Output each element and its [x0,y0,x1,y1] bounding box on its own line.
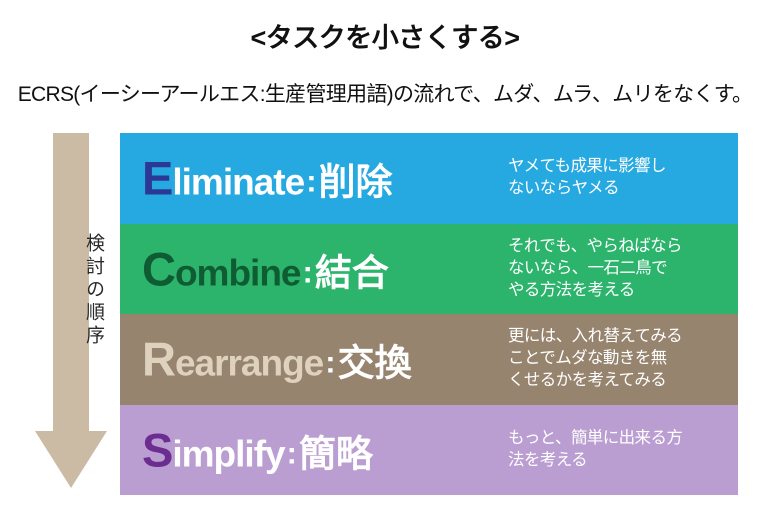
band-heading: Simplify:簡略 [142,426,373,473]
band-description-line: くせるかを考えてみる [508,370,682,392]
ecrs-band-list: Eliminate:削除ヤメても成果に影響しないならヤメるCombine:結合そ… [120,133,738,495]
band-heading: Combine:結合 [142,245,389,292]
band-colon: : [301,254,315,289]
page-title: <タスクを小さくする> [0,16,770,55]
band-description: もっと、簡単に出来る方法を考える [508,428,682,472]
band-colon: : [285,435,299,470]
ecrs-band-combine: Combine:結合それでも、やらねばならないなら、一石二鳥でやる方法を考える [120,224,738,315]
band-description-line: それでも、やらねばなら [508,236,682,258]
band-description-line: 法を考える [508,450,682,472]
band-word-rest: implify [172,433,284,474]
band-word-rest: ombine [175,252,301,293]
band-description-line: やる方法を考える [508,280,682,302]
slide-canvas: <タスクを小さくする> ECRS(イーシーアールエス:生産管理用語)の流れで、ム… [0,0,770,513]
band-description: ヤメても成果に影響しないならヤメる [508,156,666,200]
band-word-rest: liminate [172,162,304,203]
ecrs-band-eliminate: Eliminate:削除ヤメても成果に影響しないならヤメる [120,133,738,224]
band-initial-letter: E [142,152,172,205]
band-description-line: ヤメても成果に影響し [508,156,666,178]
band-description-line: 更には、入れ替えてみる [508,326,682,348]
ecrs-band-simplify: Simplify:簡略もっと、簡単に出来る方法を考える [120,405,738,496]
band-description: 更には、入れ替えてみることでムダな動きを無くせるかを考えてみる [508,326,682,392]
arrow-label: 検討の順序 [35,195,107,385]
band-heading: Eliminate:削除 [142,155,393,202]
band-heading: Rearrange:交換 [142,336,412,383]
ecrs-band-rearrange: Rearrange:交換更には、入れ替えてみることでムダな動きを無くせるかを考え… [120,314,738,405]
order-arrow: 検討の順序 [35,133,107,488]
band-japanese-term: 簡略 [299,433,373,474]
band-japanese-term: 削除 [319,162,393,203]
page-subtitle: ECRS(イーシーアールエス:生産管理用語)の流れで、ムダ、ムラ、ムリをなくす。 [0,78,770,108]
band-description-line: ことでムダな動きを無 [508,348,682,370]
arrow-head-icon [35,431,107,488]
band-initial-letter: R [142,333,175,386]
band-description-line: ないなら、一石二鳥で [508,258,682,280]
band-initial-letter: S [142,423,172,476]
band-japanese-term: 結合 [315,252,389,293]
band-colon: : [323,345,337,380]
band-description-line: もっと、簡単に出来る方 [508,428,682,450]
band-word-rest: earrange [175,343,323,384]
band-japanese-term: 交換 [338,343,412,384]
band-colon: : [304,164,318,199]
band-initial-letter: C [142,242,175,295]
band-description-line: ないならヤメる [508,178,666,200]
band-description: それでも、やらねばならないなら、一石二鳥でやる方法を考える [508,236,682,302]
